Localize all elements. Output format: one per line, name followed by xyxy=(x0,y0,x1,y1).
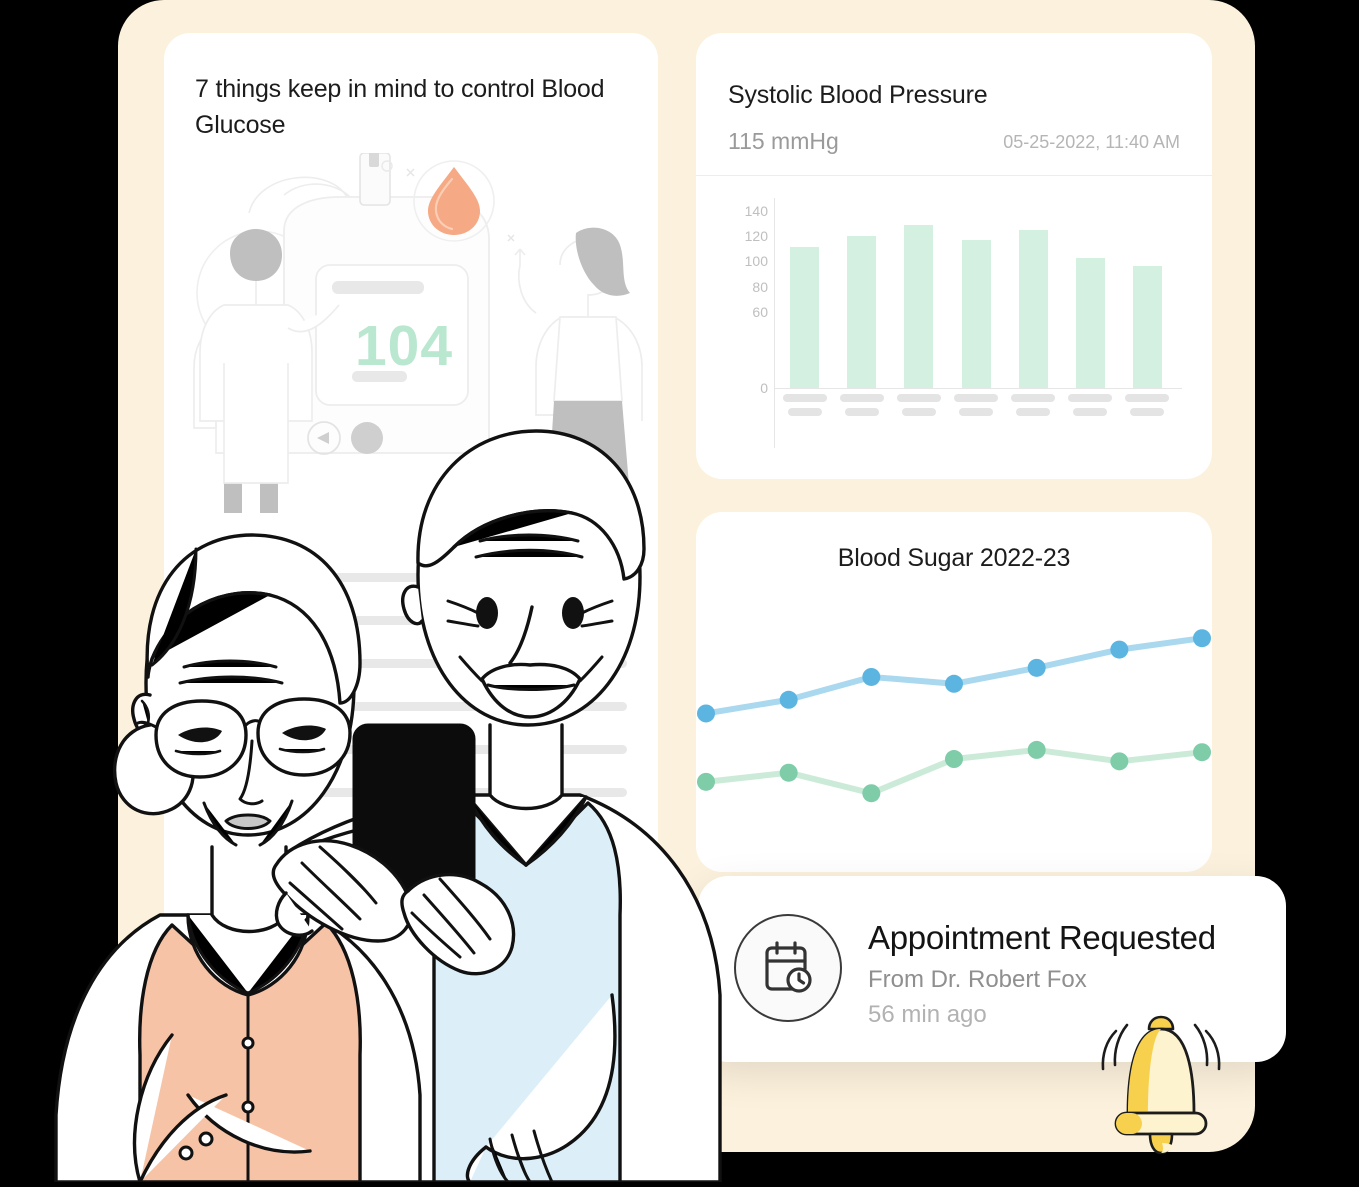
blood-pressure-card[interactable]: Systolic Blood Pressure 115 mmHg 05-25-2… xyxy=(696,33,1212,479)
bar-column[interactable] xyxy=(790,198,819,388)
blood-sugar-line-chart[interactable] xyxy=(696,584,1212,872)
bar-label-placeholder xyxy=(1122,394,1172,422)
blood-pressure-timestamp: 05-25-2022, 11:40 AM xyxy=(1003,132,1180,153)
bar-chart-plot xyxy=(776,198,1176,388)
skeleton-pill xyxy=(788,408,822,416)
bar[interactable] xyxy=(847,236,876,388)
bar-column[interactable] xyxy=(904,198,933,388)
bar-label-placeholder xyxy=(780,394,830,422)
bar-column[interactable] xyxy=(1076,198,1105,388)
bar-column[interactable] xyxy=(1133,198,1162,388)
skeleton-pill xyxy=(902,408,936,416)
line-data-point[interactable] xyxy=(780,764,798,782)
blood-pressure-value: 115 mmHg xyxy=(728,128,839,155)
skeleton-pill xyxy=(954,394,998,402)
elderly-couple-illustration xyxy=(20,395,760,1182)
line-data-point[interactable] xyxy=(780,691,798,709)
skeleton-pill xyxy=(1125,394,1169,402)
bar-column[interactable] xyxy=(847,198,876,388)
bar[interactable] xyxy=(790,247,819,388)
meter-reading-value: 104 xyxy=(304,313,504,379)
bar-chart-y-tick: 80 xyxy=(728,279,768,295)
bar-label-placeholder xyxy=(837,394,887,422)
bar-chart-y-tick: 100 xyxy=(728,253,768,269)
line-data-point[interactable] xyxy=(1028,659,1046,677)
bar-label-placeholder xyxy=(894,394,944,422)
systolic-bar-chart[interactable]: 06080100120140 xyxy=(724,188,1184,468)
bar-column[interactable] xyxy=(962,198,991,388)
line-data-point[interactable] xyxy=(1028,741,1046,759)
skeleton-pill xyxy=(845,408,879,416)
bar[interactable] xyxy=(1019,230,1048,388)
bar-chart-y-tick: 140 xyxy=(728,203,768,219)
line-data-point[interactable] xyxy=(1110,752,1128,770)
bar-chart-y-tick: 0 xyxy=(728,380,768,396)
bar[interactable] xyxy=(1133,266,1162,388)
skeleton-pill xyxy=(783,394,827,402)
bar[interactable] xyxy=(962,240,991,388)
line-data-point[interactable] xyxy=(945,750,963,768)
bar-label-placeholder xyxy=(1065,394,1115,422)
blood-pressure-title: Systolic Blood Pressure xyxy=(728,81,987,110)
skeleton-pill xyxy=(1073,408,1107,416)
bar-label-placeholder xyxy=(1008,394,1058,422)
skeleton-pill xyxy=(1130,408,1164,416)
bar-label-placeholder xyxy=(951,394,1001,422)
article-title: 7 things keep in mind to control Blood G… xyxy=(195,71,615,143)
bar-chart-y-tick: 120 xyxy=(728,228,768,244)
line-data-point[interactable] xyxy=(1110,641,1128,659)
bar[interactable] xyxy=(1076,258,1105,388)
line-data-point[interactable] xyxy=(862,784,880,802)
bar-chart-y-axis: 06080100120140 xyxy=(724,198,768,388)
notification-time: 56 min ago xyxy=(868,1001,987,1029)
blood-sugar-card[interactable]: Blood Sugar 2022-23 xyxy=(696,512,1212,872)
notification-title: Appointment Requested xyxy=(868,919,1216,957)
line-data-point[interactable] xyxy=(862,668,880,686)
skeleton-pill xyxy=(959,408,993,416)
bar[interactable] xyxy=(904,225,933,388)
bell-icon xyxy=(1086,1003,1236,1163)
line-data-point[interactable] xyxy=(945,675,963,693)
notification-subtitle: From Dr. Robert Fox xyxy=(868,966,1087,994)
bar-chart-baseline xyxy=(774,388,1182,389)
blood-sugar-title: Blood Sugar 2022-23 xyxy=(696,544,1212,573)
skeleton-pill xyxy=(1068,394,1112,402)
skeleton-pill xyxy=(840,394,884,402)
skeleton-pill xyxy=(1011,394,1055,402)
line-data-point[interactable] xyxy=(1193,629,1211,647)
bar-chart-axis-line xyxy=(774,198,775,448)
card-divider xyxy=(696,175,1212,176)
bar-column[interactable] xyxy=(1019,198,1048,388)
skeleton-pill xyxy=(897,394,941,402)
skeleton-pill xyxy=(1016,408,1050,416)
line-data-point[interactable] xyxy=(1193,743,1211,761)
bar-chart-y-tick: 60 xyxy=(728,304,768,320)
